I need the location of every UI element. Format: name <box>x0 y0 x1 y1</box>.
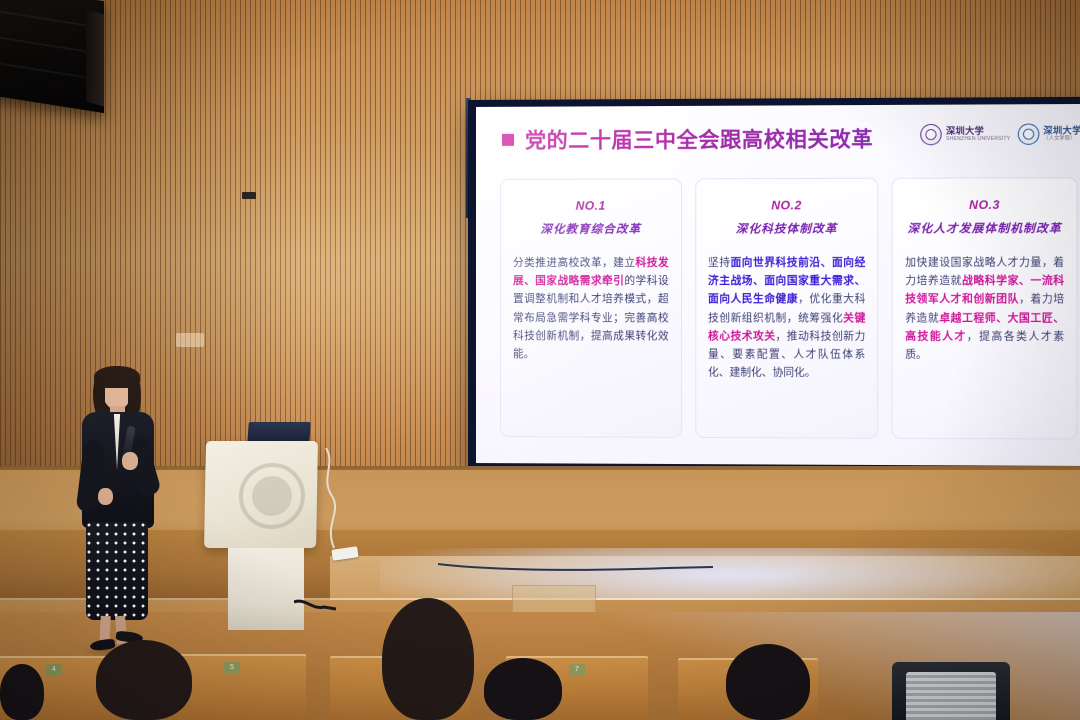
audience-office-chair <box>892 662 1010 720</box>
presenter-polkadot-skirt <box>86 522 148 620</box>
square-bullet-icon <box>502 134 514 146</box>
projection-screen-frame: 党的二十届三中全会跟高校相关改革 深圳大学 SHENZHEN UNIVERSIT… <box>468 97 1080 475</box>
seat-number-4: 4 <box>46 664 62 675</box>
lecture-hall-photo: 党的二十届三中全会跟高校相关改革 深圳大学 SHENZHEN UNIVERSIT… <box>0 0 1080 720</box>
audience-head-4 <box>484 658 562 720</box>
stage-floor-cable <box>438 562 713 572</box>
card-number-2: NO.2 <box>708 198 865 212</box>
audience-head-1 <box>0 664 44 720</box>
wall-socket <box>242 192 256 199</box>
slide-card-2: NO.2 深化科技体制改革 坚持面向世界科技前沿、面向经济主战场、面向国家重大需… <box>695 178 879 439</box>
audience-head-5 <box>726 644 810 720</box>
presenter-left-hand <box>98 488 113 505</box>
card-heading-3: 深化人才发展体制机制改革 <box>905 220 1064 236</box>
slide-card-row: NO.1 深化教育综合改革 分类推进高校改革，建立科技发展、国家战略需求牵引的学… <box>500 177 1078 439</box>
podium <box>204 441 318 548</box>
logo-unit-2: 深圳大学 （人文学院） <box>1018 123 1080 145</box>
podium-base <box>228 548 304 630</box>
slide-surface: 党的二十届三中全会跟高校相关改革 深圳大学 SHENZHEN UNIVERSIT… <box>476 104 1080 466</box>
presenter-right-hand <box>122 452 138 470</box>
presenter-hair-left <box>93 376 105 416</box>
slide-title: 党的二十届三中全会跟高校相关改革 <box>525 123 873 155</box>
logo-unit-1: 深圳大学 SHENZHEN UNIVERSITY <box>920 124 1010 146</box>
card-heading-2: 深化科技体制改革 <box>708 220 865 236</box>
seat-number-5: 5 <box>224 662 240 673</box>
podium-floor-cable <box>294 598 336 614</box>
card-heading-1: 深化教育综合改革 <box>513 221 669 237</box>
seat-number-7: 7 <box>569 664 585 675</box>
card-body-2: 坚持面向世界科技前沿、面向经济主战场、面向国家重大需求、面向人民生命健康，优化重… <box>708 254 865 383</box>
card-body-1: 分类推进高校改革，建立科技发展、国家战略需求牵引的学科设置调整机制和人才培养模式… <box>513 254 669 364</box>
wall-access-plate <box>176 333 204 347</box>
chair-mesh-back <box>906 672 996 720</box>
presenter <box>64 364 172 652</box>
logo-sub-1: SHENZHEN UNIVERSITY <box>946 136 1010 142</box>
audience-head-2 <box>96 640 192 720</box>
university-school-seal-icon <box>1018 123 1040 144</box>
slide-card-1: NO.1 深化教育综合改革 分类推进高校改革，建立科技发展、国家战略需求牵引的学… <box>500 178 682 438</box>
card-number-1: NO.1 <box>513 199 669 213</box>
card-body-3: 加快建设国家战略人才力量，着力培养造就战略科学家、一流科技领军人才和创新团队，着… <box>905 253 1064 364</box>
speaker-side-panel <box>86 9 104 106</box>
podium-power-cable <box>318 448 344 554</box>
shenzhen-university-seal-icon <box>920 124 942 145</box>
podium-university-emblem-icon <box>238 463 305 529</box>
audience-head-3 <box>382 598 474 720</box>
university-logos: 深圳大学 SHENZHEN UNIVERSITY 深圳大学 （人文学院） <box>920 123 1080 145</box>
card-number-3: NO.3 <box>905 198 1064 213</box>
logo-sub-2: （人文学院） <box>1043 136 1080 141</box>
slide-card-3: NO.3 深化人才发展体制机制改革 加快建设国家战略人才力量，着力培养造就战略科… <box>892 177 1078 439</box>
